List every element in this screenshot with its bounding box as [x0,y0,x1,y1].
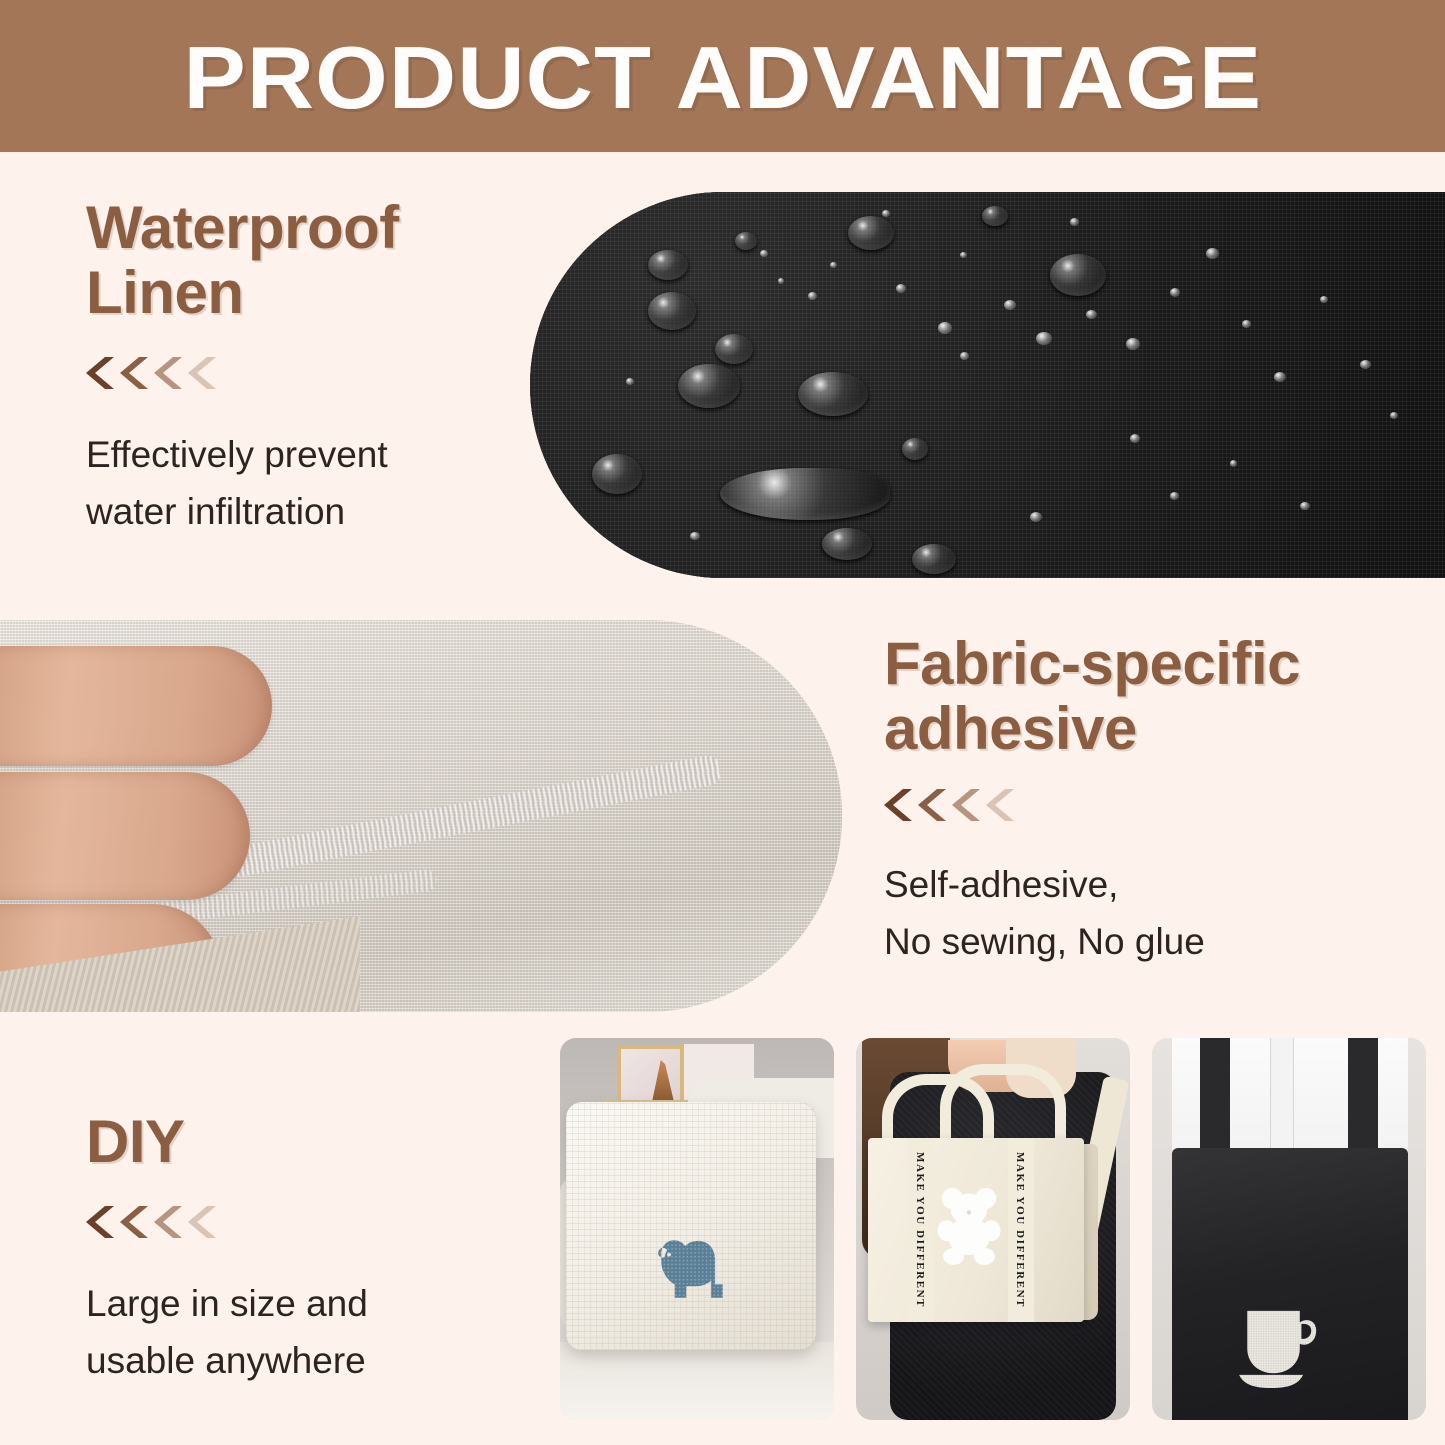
chevrons-left-icon [884,788,1404,822]
water-speck [1320,296,1328,303]
water-speck [896,284,906,293]
water-speck [1030,512,1042,522]
water-speck [808,292,817,300]
water-droplet [735,232,757,250]
chevrons-left-icon [86,356,556,390]
water-speck [960,352,969,360]
water-speck [1300,502,1310,510]
water-speck [1360,360,1371,369]
water-speck [1126,338,1140,350]
water-speck [830,262,837,268]
water-droplet-large [720,468,890,520]
water-speck [1130,434,1140,443]
hand-holding-linen-fabric-photo [0,620,842,1012]
section-waterproof-linen-text: Waterproof Linen Effectively prevent wat… [86,196,556,540]
water-speck [1170,288,1180,297]
finger [0,772,250,900]
water-droplet [912,544,956,574]
section-diy-text: DIY Large in size and usable anywhere [86,1110,516,1389]
product-advantage-infographic: PRODUCT ADVANTAGE Waterproof Linen Effec… [0,0,1445,1445]
water-droplet [715,334,753,364]
page-title: PRODUCT ADVANTAGE [183,34,1262,122]
finger [0,646,272,766]
water-droplet [848,216,894,250]
water-speck [690,532,700,540]
water-speck [1242,320,1251,328]
water-droplet [798,372,868,416]
tote-bag-with-bear-patch-photo: MAKE YOU DIFFERENT MAKE YOU DIFFERENT [856,1038,1130,1420]
water-speck [626,378,634,385]
water-speck [778,278,784,284]
water-droplet [678,364,740,408]
water-speck [882,210,890,217]
section-heading-diy: DIY [86,1110,516,1175]
water-droplet [822,528,872,560]
water-speck [960,252,967,258]
pillow-with-dog-patch-photo [560,1038,834,1420]
water-speck [1206,248,1219,259]
water-droplet [648,292,696,330]
apron-with-cup-patch-photo [1152,1038,1426,1420]
water-droplet [648,250,688,280]
section-body-diy-line-1: Large in size and [86,1275,516,1332]
water-droplet [592,454,642,494]
water-droplet [1050,254,1106,296]
section-body-fabric-adhesive-line-1: Self-adhesive, [884,856,1404,913]
bag-strap-text-right: MAKE YOU DIFFERENT [1014,1152,1026,1308]
water-speck [1230,460,1237,467]
water-speck [1170,492,1179,500]
section-heading-fabric-adhesive: Fabric-specific adhesive [884,632,1404,762]
dog-silhouette-patch [644,1220,740,1318]
product-thumbnail-row: MAKE YOU DIFFERENT MAKE YOU DIFFERENT [560,1038,1426,1420]
section-body-waterproof-line-2: water infiltration [86,483,556,540]
section-body-waterproof-line-1: Effectively prevent [86,426,556,483]
water-speck [1274,372,1286,382]
water-speck [1086,310,1097,319]
section-body-fabric-adhesive-line-2: No sewing, No glue [884,913,1404,970]
water-speck [760,250,768,257]
bear-silhouette-patch [934,1184,1004,1266]
header-band: PRODUCT ADVANTAGE [0,0,1445,152]
sofa-seat [560,1342,834,1420]
coffee-cup-patch [1230,1306,1322,1388]
water-speck [1004,300,1016,310]
water-speck [1390,412,1398,419]
water-speck [938,322,952,334]
water-speck [1036,332,1052,345]
section-heading-waterproof: Waterproof Linen [86,196,556,326]
water-speck [1070,218,1079,226]
section-fabric-adhesive-text: Fabric-specific adhesive Self-adhesive, … [884,632,1404,970]
section-body-diy-line-2: usable anywhere [86,1332,516,1389]
water-droplet [982,206,1008,226]
chevrons-left-icon [86,1205,516,1239]
water-droplet [902,438,928,460]
water-droplets-on-black-fabric-photo [530,192,1445,578]
bag-strap-text-left: MAKE YOU DIFFERENT [914,1152,926,1308]
